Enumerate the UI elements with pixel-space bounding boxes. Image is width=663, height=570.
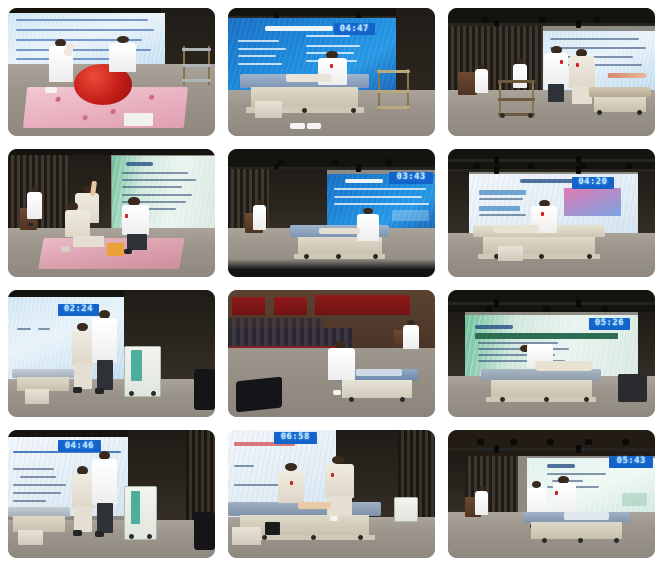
photo-grid-row-2: 03:43	[8, 149, 655, 277]
photo-11-image: 06:58	[228, 430, 435, 558]
timer-badge: 05:43	[609, 456, 652, 468]
photo-tile-8[interactable]	[228, 290, 435, 418]
photo-1-image	[8, 8, 215, 136]
person	[253, 200, 267, 238]
person	[323, 456, 356, 522]
photo-tile-7[interactable]: 02:24	[8, 290, 215, 418]
photo-tile-6[interactable]: 04:20	[448, 149, 655, 277]
timer-badge: 05:26	[589, 318, 630, 330]
person	[543, 46, 570, 105]
photo-tile-11[interactable]: 06:58	[228, 430, 435, 558]
person	[91, 310, 120, 397]
photo-tile-12[interactable]: 05:43	[448, 430, 655, 558]
timer-badge: 03:43	[389, 172, 432, 184]
photo-12-image: 05:43	[448, 430, 655, 558]
photo-10-image: 04:46	[8, 430, 215, 558]
timer-badge: 04:20	[572, 177, 613, 189]
timer-badge: 02:24	[58, 304, 99, 316]
timer-badge: 04:46	[58, 440, 101, 452]
photo-8-image	[228, 290, 435, 418]
photo-5-image: 03:43	[228, 149, 435, 277]
photo-grid-row-1: 04:47	[8, 8, 655, 136]
photo-2-image: 04:47	[228, 8, 435, 136]
photo-4-image	[8, 149, 215, 277]
photo-7-image: 02:24	[8, 290, 215, 418]
person	[278, 463, 307, 506]
photo-tile-1[interactable]	[8, 8, 215, 136]
person	[356, 208, 381, 251]
person	[91, 451, 120, 540]
photo-grid-page: 04:47	[0, 0, 663, 570]
person	[62, 202, 108, 256]
photo-tile-2[interactable]: 04:47	[228, 8, 435, 136]
timer-badge: 06:58	[274, 432, 317, 444]
person	[402, 320, 421, 353]
photo-6-image: 04:20	[448, 149, 655, 277]
person	[327, 341, 356, 397]
person	[475, 64, 489, 97]
person	[27, 187, 44, 228]
photo-tile-5[interactable]: 03:43	[228, 149, 435, 277]
photo-tile-3[interactable]	[448, 8, 655, 136]
person	[107, 36, 140, 79]
photo-grid-row-4: 04:46	[8, 430, 655, 558]
photo-tile-9[interactable]: 05:26	[448, 290, 655, 418]
timer-badge: 04:47	[334, 23, 375, 35]
photo-tile-4[interactable]	[8, 149, 215, 277]
person	[475, 486, 489, 519]
photo-tile-10[interactable]: 04:46	[8, 430, 215, 558]
person	[120, 197, 153, 256]
photo-grid-row-3: 02:24	[8, 290, 655, 418]
person	[45, 39, 78, 98]
photo-9-image: 05:26	[448, 290, 655, 418]
photo-3-image	[448, 8, 655, 136]
